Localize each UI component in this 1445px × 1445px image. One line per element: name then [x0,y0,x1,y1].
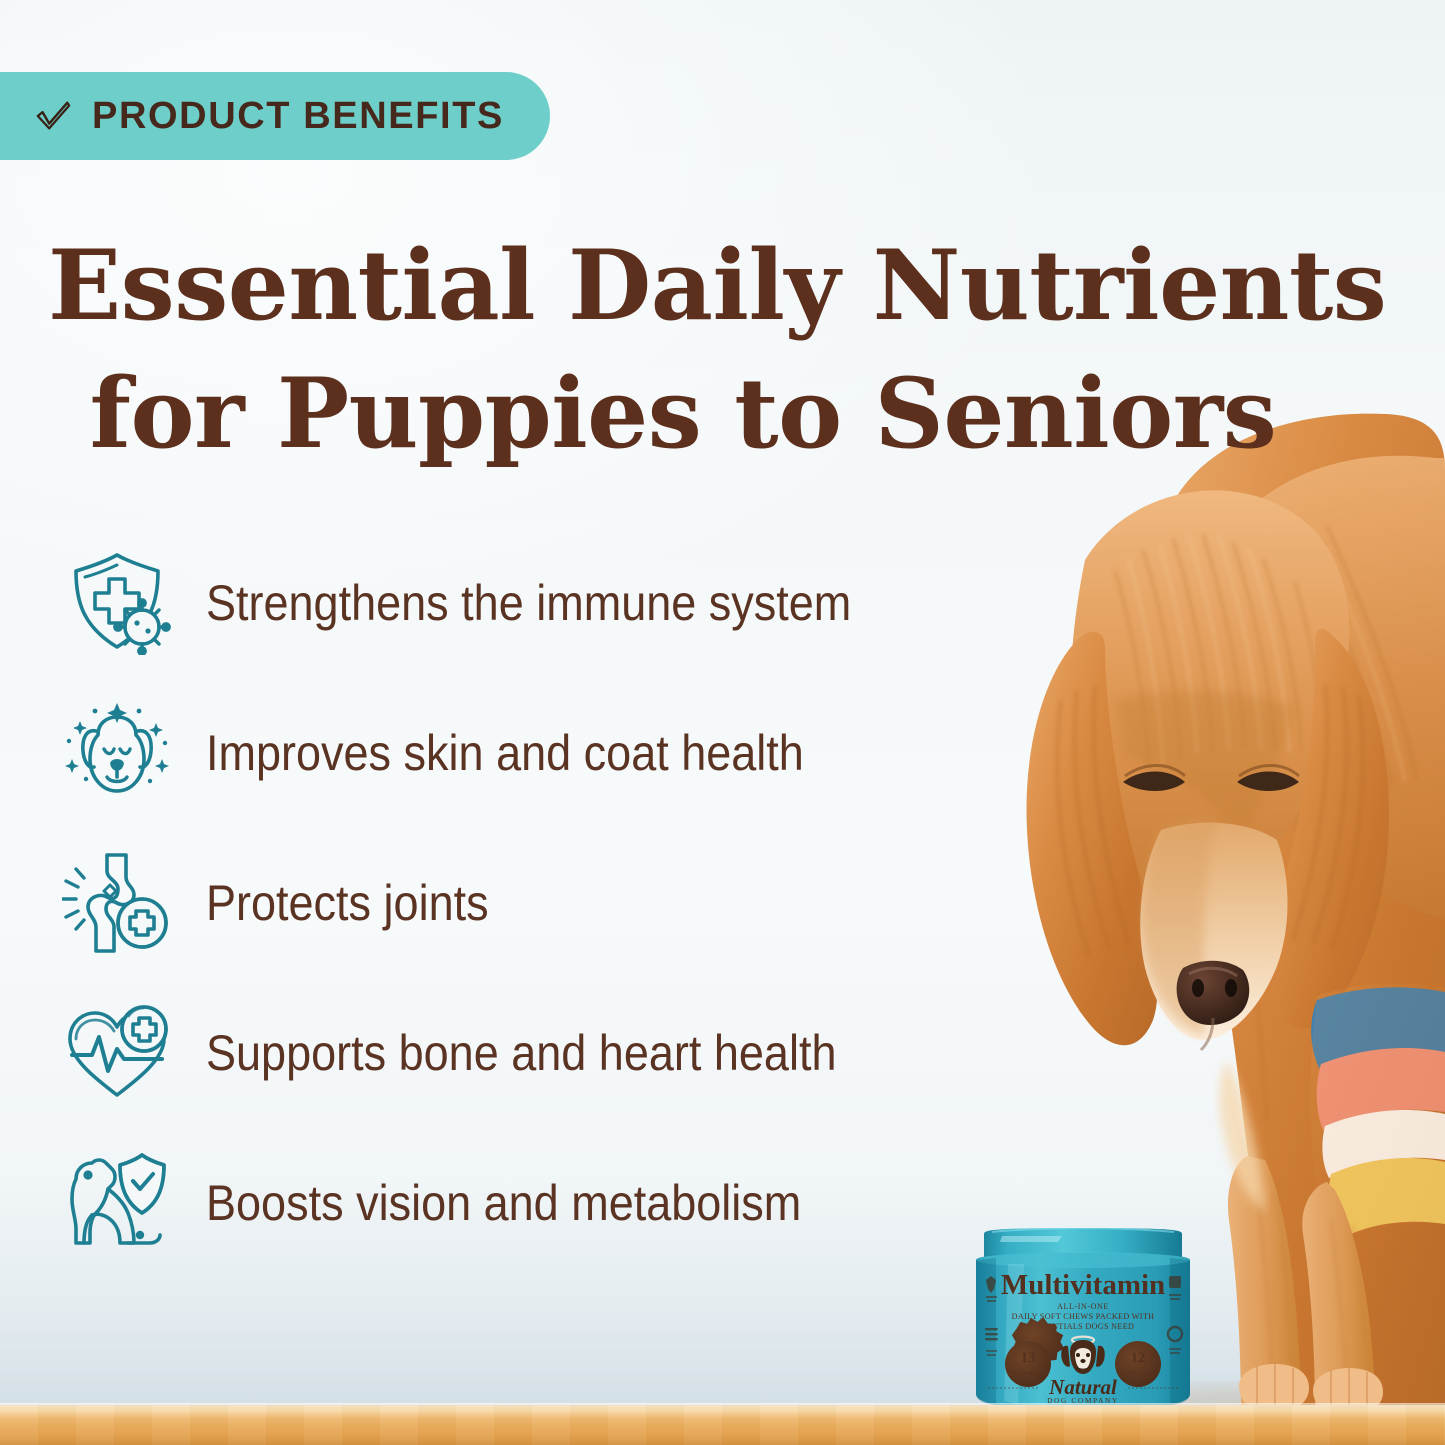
benefit-item: Strengthens the immune system [62,528,1052,678]
jar-badge-right-number: 12 [1131,1350,1146,1366]
headline-line-1: Essential Daily Nutrients [48,222,1388,350]
benefit-label: Strengthens the immune system [206,574,851,632]
dog-face-sparkles-icon [62,701,172,805]
jar-badge-left-label: VITAMINS [1013,1371,1044,1377]
benefit-item: Protects joints [62,828,1052,978]
benefit-label: Protects joints [206,874,489,932]
jar-tagline-1: ALL-IN-ONE [1057,1302,1109,1311]
jar-badge-right-label: MINERALS [1122,1371,1155,1377]
multivitamin-jar: Multivitamin ALL-IN-ONE DAILY SOFT CHEWS… [962,1228,1204,1424]
benefit-item: Supports bone and heart health [62,978,1052,1128]
bone-joint-cross-icon [62,851,172,955]
headline-line-2: for Puppies to Seniors [48,350,1318,478]
jar-badge-left-number: 13 [1021,1350,1036,1366]
benefits-list: Strengthens the immune system [62,528,1052,1278]
benefit-label: Boosts vision and metabolism [206,1174,801,1232]
benefit-item: Boosts vision and metabolism [62,1128,1052,1278]
poster-canvas: PRODUCT BENEFITS Essential Daily Nutrien… [0,0,1445,1445]
shelf-grain [0,1405,1445,1445]
benefit-item: Improves skin and coat health [62,678,1052,828]
page-title: Essential Daily Nutrients for Puppies to… [48,222,1388,477]
badge-label: PRODUCT BENEFITS [92,95,504,138]
shield-cross-virus-icon [62,551,172,655]
jar-title: Multivitamin [1001,1269,1165,1301]
benefit-label: Improves skin and coat health [206,724,804,782]
jar-badge-minerals: 12 MINERALS [1115,1341,1161,1387]
dog-shield-check-icon [62,1151,172,1255]
benefit-label: Supports bone and heart health [206,1024,836,1082]
heart-pulse-cross-icon [62,1001,172,1105]
check-icon [34,97,72,135]
product-benefits-badge: PRODUCT BENEFITS [0,72,550,160]
wooden-shelf [0,1405,1445,1445]
